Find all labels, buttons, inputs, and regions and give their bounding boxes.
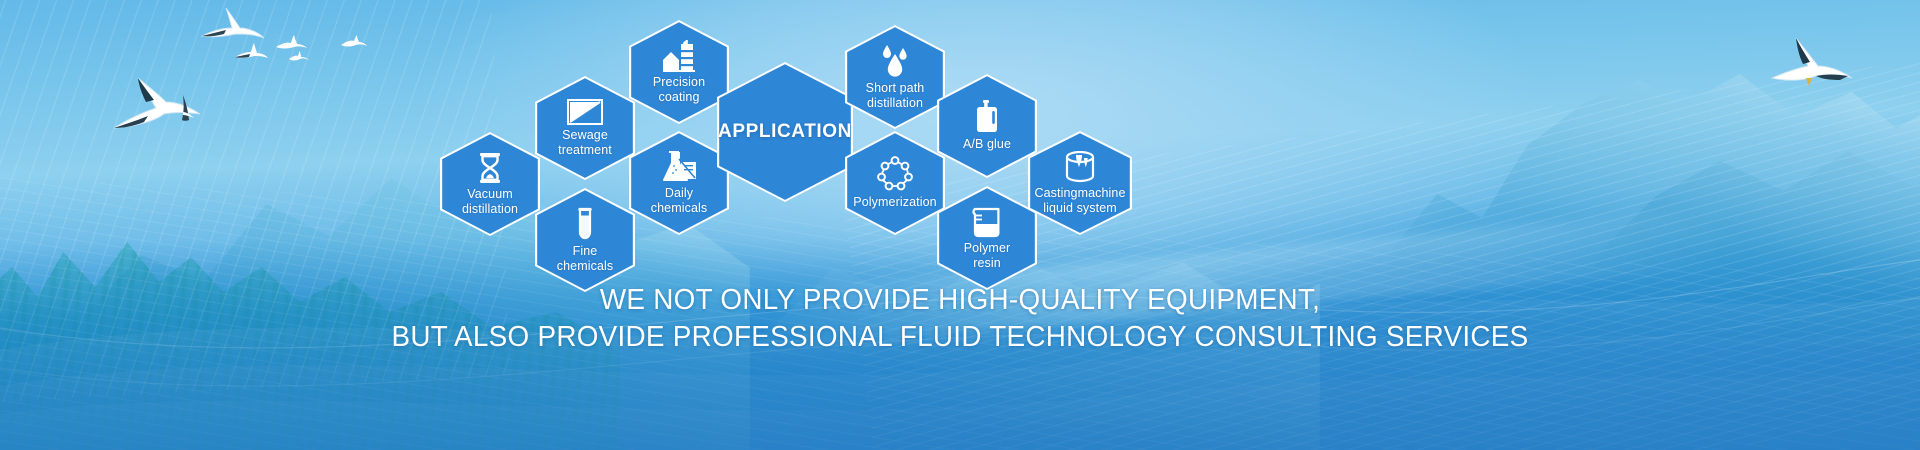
hex-label: Sewage treatment — [554, 128, 616, 157]
hex-fine-chemicals[interactable]: Fine chemicals — [535, 188, 635, 292]
application-title: APPLICATION — [714, 121, 856, 143]
coating-machine-icon — [661, 40, 697, 72]
tagline-line-2: BUT ALSO PROVIDE PROFESSIONAL FLUID TECH… — [38, 319, 1881, 356]
hex-daily-chemicals[interactable]: Daily chemicals — [629, 131, 729, 235]
pouring-beaker-icon — [971, 206, 1003, 238]
hex-label: Precision coating — [649, 75, 709, 104]
hex-castingmachine-liquid-system[interactable]: Castingmachine liquid system — [1028, 131, 1132, 235]
hex-precision-coating[interactable]: Precision coating — [629, 20, 729, 124]
hex-application-center[interactable]: APPLICATION — [717, 62, 853, 202]
hex-label: Vacuum distillation — [458, 187, 522, 216]
glue-bottle-icon — [974, 100, 1000, 134]
hex-short-path-distillation[interactable]: Short path distillation — [845, 25, 945, 129]
hex-polymer-resin[interactable]: Polymer resin — [937, 186, 1037, 290]
tagline-line-1: WE NOT ONLY PROVIDE HIGH-QUALITY EQUIPME… — [38, 282, 1881, 319]
hex-label: Fine chemicals — [553, 244, 617, 273]
hex-label: Polymer resin — [960, 241, 1015, 270]
hex-sewage-treatment[interactable]: Sewage treatment — [535, 76, 635, 180]
water-drops-icon — [878, 44, 912, 78]
banner-stage: Vacuum distillation Sewage tre — [0, 0, 1920, 450]
application-hexagon-cluster: Vacuum distillation Sewage tre — [0, 0, 1920, 450]
flask-beaker-icon — [659, 151, 699, 183]
hex-label: Short path distillation — [862, 81, 929, 110]
hex-label: Daily chemicals — [647, 186, 711, 215]
molecule-ring-icon — [877, 156, 913, 192]
hex-label: Castingmachine liquid system — [1030, 186, 1129, 215]
hex-polymerization[interactable]: Polymerization — [845, 131, 945, 235]
liquid-cylinder-icon — [1065, 151, 1095, 183]
test-tube-icon — [574, 207, 596, 241]
hex-label: Polymerization — [849, 195, 940, 209]
sewage-ramp-icon — [567, 99, 603, 125]
hex-label: A/B glue — [959, 137, 1015, 151]
hourglass-icon — [477, 152, 503, 184]
tagline-block: WE NOT ONLY PROVIDE HIGH-QUALITY EQUIPME… — [0, 282, 1920, 356]
hex-ab-glue[interactable]: A/B glue — [937, 74, 1037, 178]
hex-vacuum-distillation[interactable]: Vacuum distillation — [440, 132, 540, 236]
